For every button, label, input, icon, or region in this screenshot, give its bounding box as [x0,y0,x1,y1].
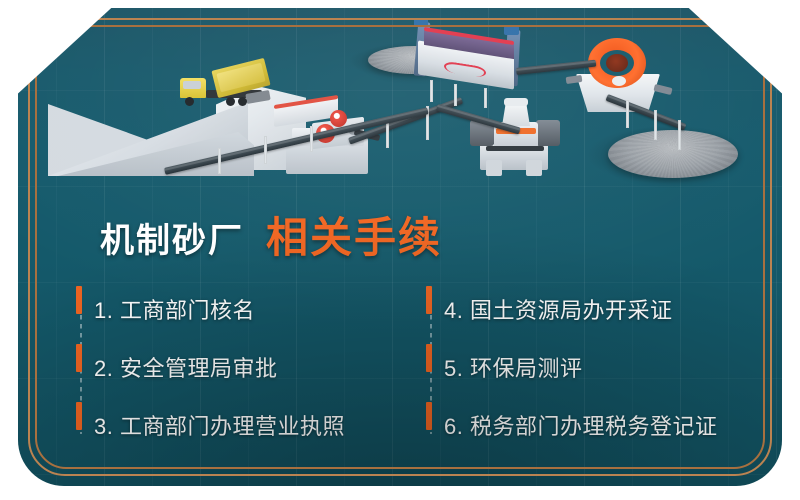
panel-vignette [18,8,782,486]
teal-panel: 机制砂厂 相关手续 1. 工商部门核名 2. 安全管理局审 [18,8,782,486]
infographic-canvas: 机制砂厂 相关手续 1. 工商部门核名 2. 安全管理局审 [0,0,800,500]
